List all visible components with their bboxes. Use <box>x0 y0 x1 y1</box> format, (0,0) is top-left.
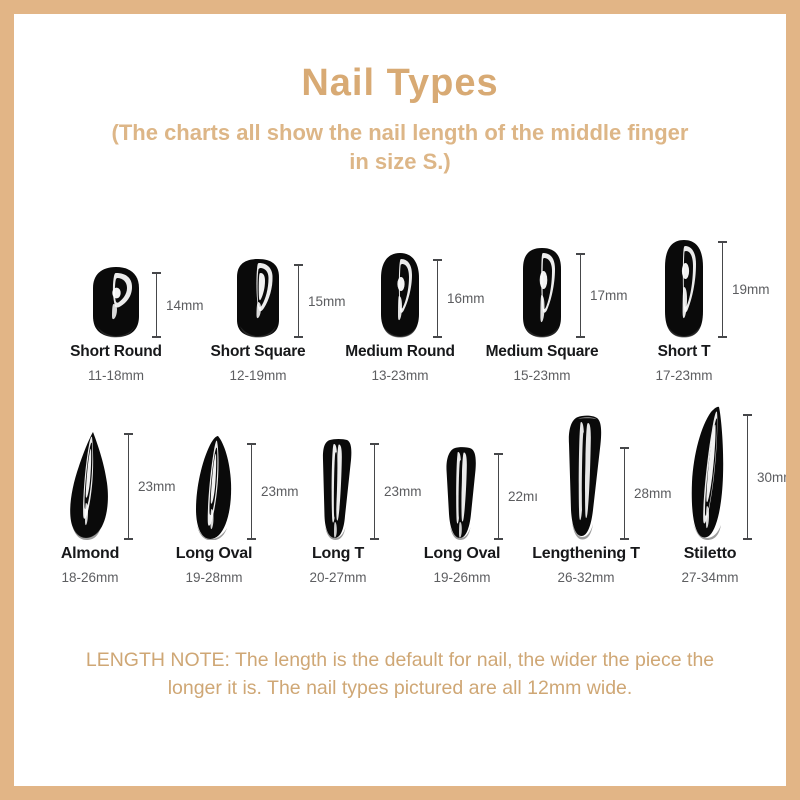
nail-shape-long-oval-2 <box>440 446 484 540</box>
nail-card-short-square[interactable]: 15mm Short Square 12-19mm <box>187 236 329 383</box>
nail-name: Medium Square <box>486 343 599 361</box>
nail-card-long-oval[interactable]: 23mm Long Oval 19-28mm <box>152 404 276 585</box>
dimension-line <box>576 253 585 338</box>
nail-wrap: 28mm <box>562 414 610 540</box>
dimension-line <box>620 447 629 540</box>
nail-wrap: 30mm <box>687 406 733 540</box>
nail-card-lengthening-t[interactable]: 28mm Lengthening T 26-32mm <box>524 404 648 585</box>
dimension-line <box>494 453 503 540</box>
nail-illustration-area: 15mm <box>187 236 329 338</box>
nail-shape-stiletto <box>687 406 733 540</box>
nail-name: Short Round <box>70 343 162 361</box>
length-note: LENGTH NOTE: The length is the default f… <box>14 646 786 703</box>
dimension-line <box>433 259 442 338</box>
nail-range: 11-18mm <box>88 368 144 383</box>
nail-illustration-area: 28mm <box>524 404 648 540</box>
page-subtitle: (The charts all show the nail length of … <box>14 118 786 176</box>
nail-wrap: 16mm <box>377 252 423 338</box>
nail-wrap: 23mm <box>191 435 237 540</box>
nail-name: Long Oval <box>424 545 500 563</box>
nail-shape-medium-square <box>518 247 566 338</box>
nail-row-1: 14mm Short Round 11-18mm <box>14 236 786 383</box>
nail-card-short-round[interactable]: 14mm Short Round 11-18mm <box>45 236 187 383</box>
nail-range: 12-19mm <box>229 368 286 383</box>
nail-name: Lengthening T <box>532 545 640 563</box>
nail-wrap: 22mı <box>440 446 484 540</box>
nail-name: Almond <box>61 545 119 563</box>
dimension-label: 30mm <box>757 470 786 485</box>
nail-row-2: 23mm Almond 18-26mm <box>14 404 786 585</box>
dimension-line <box>294 264 303 338</box>
nail-card-almond[interactable]: 23mm Almond 18-26mm <box>28 404 152 585</box>
nail-illustration-area: 14mm <box>45 236 187 338</box>
nail-wrap: 15mm <box>232 258 284 338</box>
nail-illustration-area: 16mm <box>329 236 471 338</box>
nail-illustration-area: 17mm <box>471 236 613 338</box>
nail-card-long-t[interactable]: 23mm Long T 20-27mm <box>276 404 400 585</box>
nail-name: Long T <box>312 545 364 563</box>
nail-wrap: 23mm <box>316 438 360 540</box>
page-title: Nail Types <box>14 64 786 104</box>
nail-shape-lengthening-t <box>562 414 610 540</box>
poster-canvas: Nail Types (The charts all show the nail… <box>14 14 786 786</box>
dimension-line <box>718 241 727 338</box>
dimension-label: 19mm <box>732 282 770 297</box>
nail-name: Medium Round <box>345 343 455 361</box>
header: Nail Types (The charts all show the nail… <box>14 64 786 176</box>
nail-range: 19-26mm <box>433 570 490 585</box>
nail-shape-almond <box>66 431 114 540</box>
nail-name: Long Oval <box>176 545 252 563</box>
dimension-line <box>743 414 752 540</box>
dimension-line <box>247 443 256 540</box>
nail-card-short-t[interactable]: 19mm Short T 17-23mm <box>613 236 755 383</box>
nail-name: Stiletto <box>684 545 737 563</box>
nail-wrap: 17mm <box>518 247 566 338</box>
nail-name: Short T <box>658 343 711 361</box>
nail-card-medium-round[interactable]: 16mm Medium Round 13-23mm <box>329 236 471 383</box>
nail-shape-short-t <box>660 239 708 338</box>
nail-illustration-area: 19mm <box>613 236 755 338</box>
nail-illustration-area: 23mm <box>152 404 276 540</box>
nail-range: 20-27mm <box>309 570 366 585</box>
poster-frame: Nail Types (The charts all show the nail… <box>0 0 800 800</box>
nail-wrap: 14mm <box>90 266 142 338</box>
dimension-line <box>124 433 133 540</box>
nail-range: 17-23mm <box>655 368 712 383</box>
dimension-line <box>370 443 379 540</box>
nail-illustration-area: 22mı <box>400 404 524 540</box>
nail-range: 13-23mm <box>371 368 428 383</box>
nail-name: Short Square <box>211 343 306 361</box>
nail-illustration-area: 30mm <box>648 404 772 540</box>
nail-range: 27-34mm <box>681 570 738 585</box>
nail-shape-short-round <box>90 266 142 338</box>
nail-illustration-area: 23mm <box>276 404 400 540</box>
nail-shape-long-oval <box>191 435 237 540</box>
dimension-line <box>152 272 161 338</box>
nail-shape-long-t <box>316 438 360 540</box>
nail-card-long-oval-2[interactable]: 22mı Long Oval 19-26mm <box>400 404 524 585</box>
nail-shape-short-square <box>232 258 284 338</box>
nail-wrap: 19mm <box>660 239 708 338</box>
dimension-bar: 19mm <box>718 241 770 338</box>
nail-range: 26-32mm <box>557 570 614 585</box>
nail-range: 19-28mm <box>185 570 242 585</box>
nail-range: 15-23mm <box>513 368 570 383</box>
nail-card-stiletto[interactable]: 30mm Stiletto 27-34mm <box>648 404 772 585</box>
nail-card-medium-square[interactable]: 17mm Medium Square 15-23mm <box>471 236 613 383</box>
nail-illustration-area: 23mm <box>28 404 152 540</box>
nail-shape-medium-round <box>377 252 423 338</box>
nail-range: 18-26mm <box>61 570 118 585</box>
nail-wrap: 23mm <box>66 431 114 540</box>
dimension-bar: 30mm <box>743 414 786 540</box>
